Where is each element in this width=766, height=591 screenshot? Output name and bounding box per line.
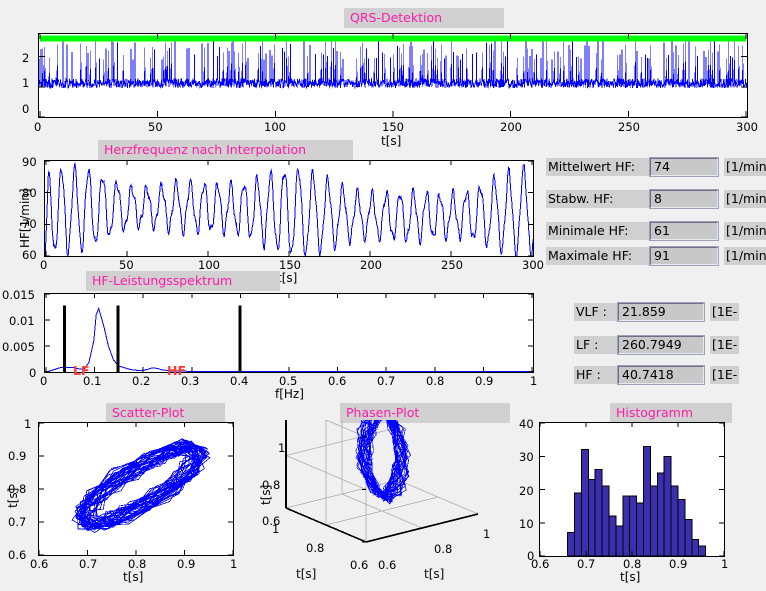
hist-xtick-09: 0.9 — [669, 557, 687, 571]
spec-ytick-001: 0.01 — [9, 314, 35, 328]
histogram-panel-title: Histogramm — [610, 403, 732, 423]
stat-value-field[interactable]: 8 — [650, 190, 718, 208]
stat-row-1: Stabw. HF:8[1/min] — [546, 190, 766, 208]
hist-ytick-30: 30 — [519, 450, 534, 464]
hist-xtick-1: 1 — [721, 557, 728, 571]
band-label: HF : — [574, 366, 618, 384]
hf-interp-plot-area[interactable] — [44, 160, 534, 257]
scat-ytick-07: 0.7 — [8, 515, 26, 529]
band-row-0: VLF :21.859[1E- — [574, 303, 739, 321]
stat-row-0: Mittelwert HF:74[1/min] — [546, 158, 766, 176]
spec-xtick-05: 0.5 — [279, 374, 297, 388]
qrs-xtick-200: 200 — [500, 120, 522, 134]
phase-ytick-08: 0.8 — [306, 541, 324, 555]
spec-xtick-1: 1 — [530, 374, 537, 388]
hfi-xtick-0: 0 — [40, 258, 47, 272]
hfi-xtick-250: 250 — [441, 258, 463, 272]
stat-unit: [1/min] — [724, 190, 766, 208]
hist-ytick-10: 10 — [519, 517, 534, 531]
hist-ytick-20: 20 — [519, 484, 534, 498]
qrs-xtick-300: 300 — [736, 120, 758, 134]
qrs-xtick-0: 0 — [34, 120, 41, 134]
stat-unit: [1/min] — [724, 247, 766, 265]
band-row-2: HF :40.7418[1E- — [574, 366, 739, 384]
hf-interp-xaxis-label: t[s] — [277, 271, 297, 285]
phase-xtick-1: 1 — [483, 527, 490, 541]
qrs-ytick-2: 2 — [22, 51, 29, 65]
spec-xtick-09: 0.9 — [475, 374, 493, 388]
scatter-panel-title: Scatter-Plot — [106, 403, 225, 423]
band-value-field[interactable]: 260.7949 — [618, 336, 704, 354]
band-value-field[interactable]: 21.859 — [618, 303, 704, 321]
scat-xtick-09: 0.9 — [177, 557, 195, 571]
band-unit: [1E- — [710, 336, 739, 354]
hist-ytick-40: 40 — [519, 417, 534, 431]
band-label: LF : — [574, 336, 618, 354]
hfi-xtick-300: 300 — [522, 258, 544, 272]
hf-interp-yaxis-label: HF[1/min] — [18, 188, 32, 248]
scat-xtick-06: 0.6 — [30, 557, 48, 571]
spec-ytick-0005: 0.005 — [2, 340, 35, 354]
spec-ytick-0: 0 — [29, 366, 36, 380]
scat-ytick-06: 0.6 — [8, 548, 26, 562]
stat-unit: [1/min] — [724, 222, 766, 240]
phase-ztick-1: 1 — [278, 441, 285, 455]
scat-ytick-09: 0.9 — [8, 449, 26, 463]
hfi-xtick-200: 200 — [360, 258, 382, 272]
spec-xtick-02: 0.2 — [132, 374, 150, 388]
histogram-xaxis-label: t[s] — [620, 570, 640, 584]
phase-zaxis-label: t[s] — [259, 485, 273, 505]
hist-xtick-07: 0.7 — [577, 557, 595, 571]
stat-value-field[interactable]: 61 — [650, 222, 718, 240]
spec-xtick-08: 0.8 — [426, 374, 444, 388]
spec-xtick-06: 0.6 — [328, 374, 346, 388]
hfi-ytick-60: 60 — [22, 248, 37, 262]
phase-ytick-1: 1 — [272, 522, 279, 536]
hfi-xtick-100: 100 — [198, 258, 220, 272]
spec-xtick-07: 0.7 — [377, 374, 395, 388]
spec-xtick-01: 0.1 — [83, 374, 101, 388]
phase-xtick-08: 0.8 — [434, 542, 452, 556]
qrs-xtick-100: 100 — [264, 120, 286, 134]
spec-xtick-04: 0.4 — [230, 374, 248, 388]
stat-unit: [1/min] — [724, 158, 766, 176]
spec-xtick-0: 0 — [40, 374, 47, 388]
hfi-xtick-150: 150 — [279, 258, 301, 272]
stat-row-2: Minimale HF:61[1/min] — [546, 222, 766, 240]
qrs-xaxis-label: t[s] — [381, 134, 401, 148]
hf-interp-panel-title: Herzfrequenz nach Interpolation — [98, 140, 353, 160]
phase-ytick-06: 0.6 — [350, 558, 368, 572]
hist-xtick-08: 0.8 — [623, 557, 641, 571]
qrs-xtick-250: 250 — [618, 120, 640, 134]
phase-yaxis-label: t[s] — [296, 567, 316, 581]
qrs-xtick-150: 150 — [382, 120, 404, 134]
spectrum-plot-area[interactable] — [44, 293, 534, 373]
phase-xtick-06: 0.6 — [378, 558, 396, 572]
band-value-field[interactable]: 40.7418 — [618, 366, 704, 384]
spectrum-xaxis-label: f[Hz] — [275, 387, 304, 401]
band-unit: [1E- — [710, 303, 739, 321]
scat-xtick-1: 1 — [230, 557, 237, 571]
stat-label: Maximale HF: — [546, 247, 650, 265]
hist-xtick-06: 0.6 — [531, 557, 549, 571]
scatter-plot-area[interactable] — [38, 422, 234, 556]
scat-ytick-1: 1 — [24, 417, 31, 431]
scat-xtick-08: 0.8 — [128, 557, 146, 571]
stat-label: Mittelwert HF: — [546, 158, 650, 176]
scatter-xaxis-label: t[s] — [123, 570, 143, 584]
band-label: VLF : — [574, 303, 618, 321]
phase-plot-area[interactable] — [258, 420, 508, 570]
qrs-plot-area[interactable] — [38, 33, 748, 118]
stat-label: Minimale HF: — [546, 222, 650, 240]
band-unit: [1E- — [710, 366, 739, 384]
spec-xtick-03: 0.3 — [181, 374, 199, 388]
phase-xaxis-label: t[s] — [424, 567, 444, 581]
scat-xtick-07: 0.7 — [79, 557, 97, 571]
hfi-ytick-90: 90 — [22, 155, 37, 169]
band-row-1: LF :260.7949[1E- — [574, 336, 739, 354]
qrs-ytick-0: 0 — [22, 102, 29, 116]
spectrum-panel-title: HF-Leistungsspektrum — [86, 271, 280, 291]
qrs-panel-title: QRS-Detektion — [344, 8, 504, 28]
stat-value-field[interactable]: 74 — [650, 158, 718, 176]
scatter-yaxis-label: t[s] — [6, 488, 20, 508]
stat-value-field[interactable]: 91 — [650, 247, 718, 265]
stat-label: Stabw. HF: — [546, 190, 650, 208]
qrs-ytick-1: 1 — [22, 76, 29, 90]
qrs-xtick-50: 50 — [148, 120, 163, 134]
stat-row-3: Maximale HF:91[1/min] — [546, 247, 766, 265]
histogram-plot-area[interactable] — [539, 422, 725, 557]
spec-ytick-0015: 0.015 — [2, 288, 35, 302]
hfi-xtick-50: 50 — [119, 258, 134, 272]
